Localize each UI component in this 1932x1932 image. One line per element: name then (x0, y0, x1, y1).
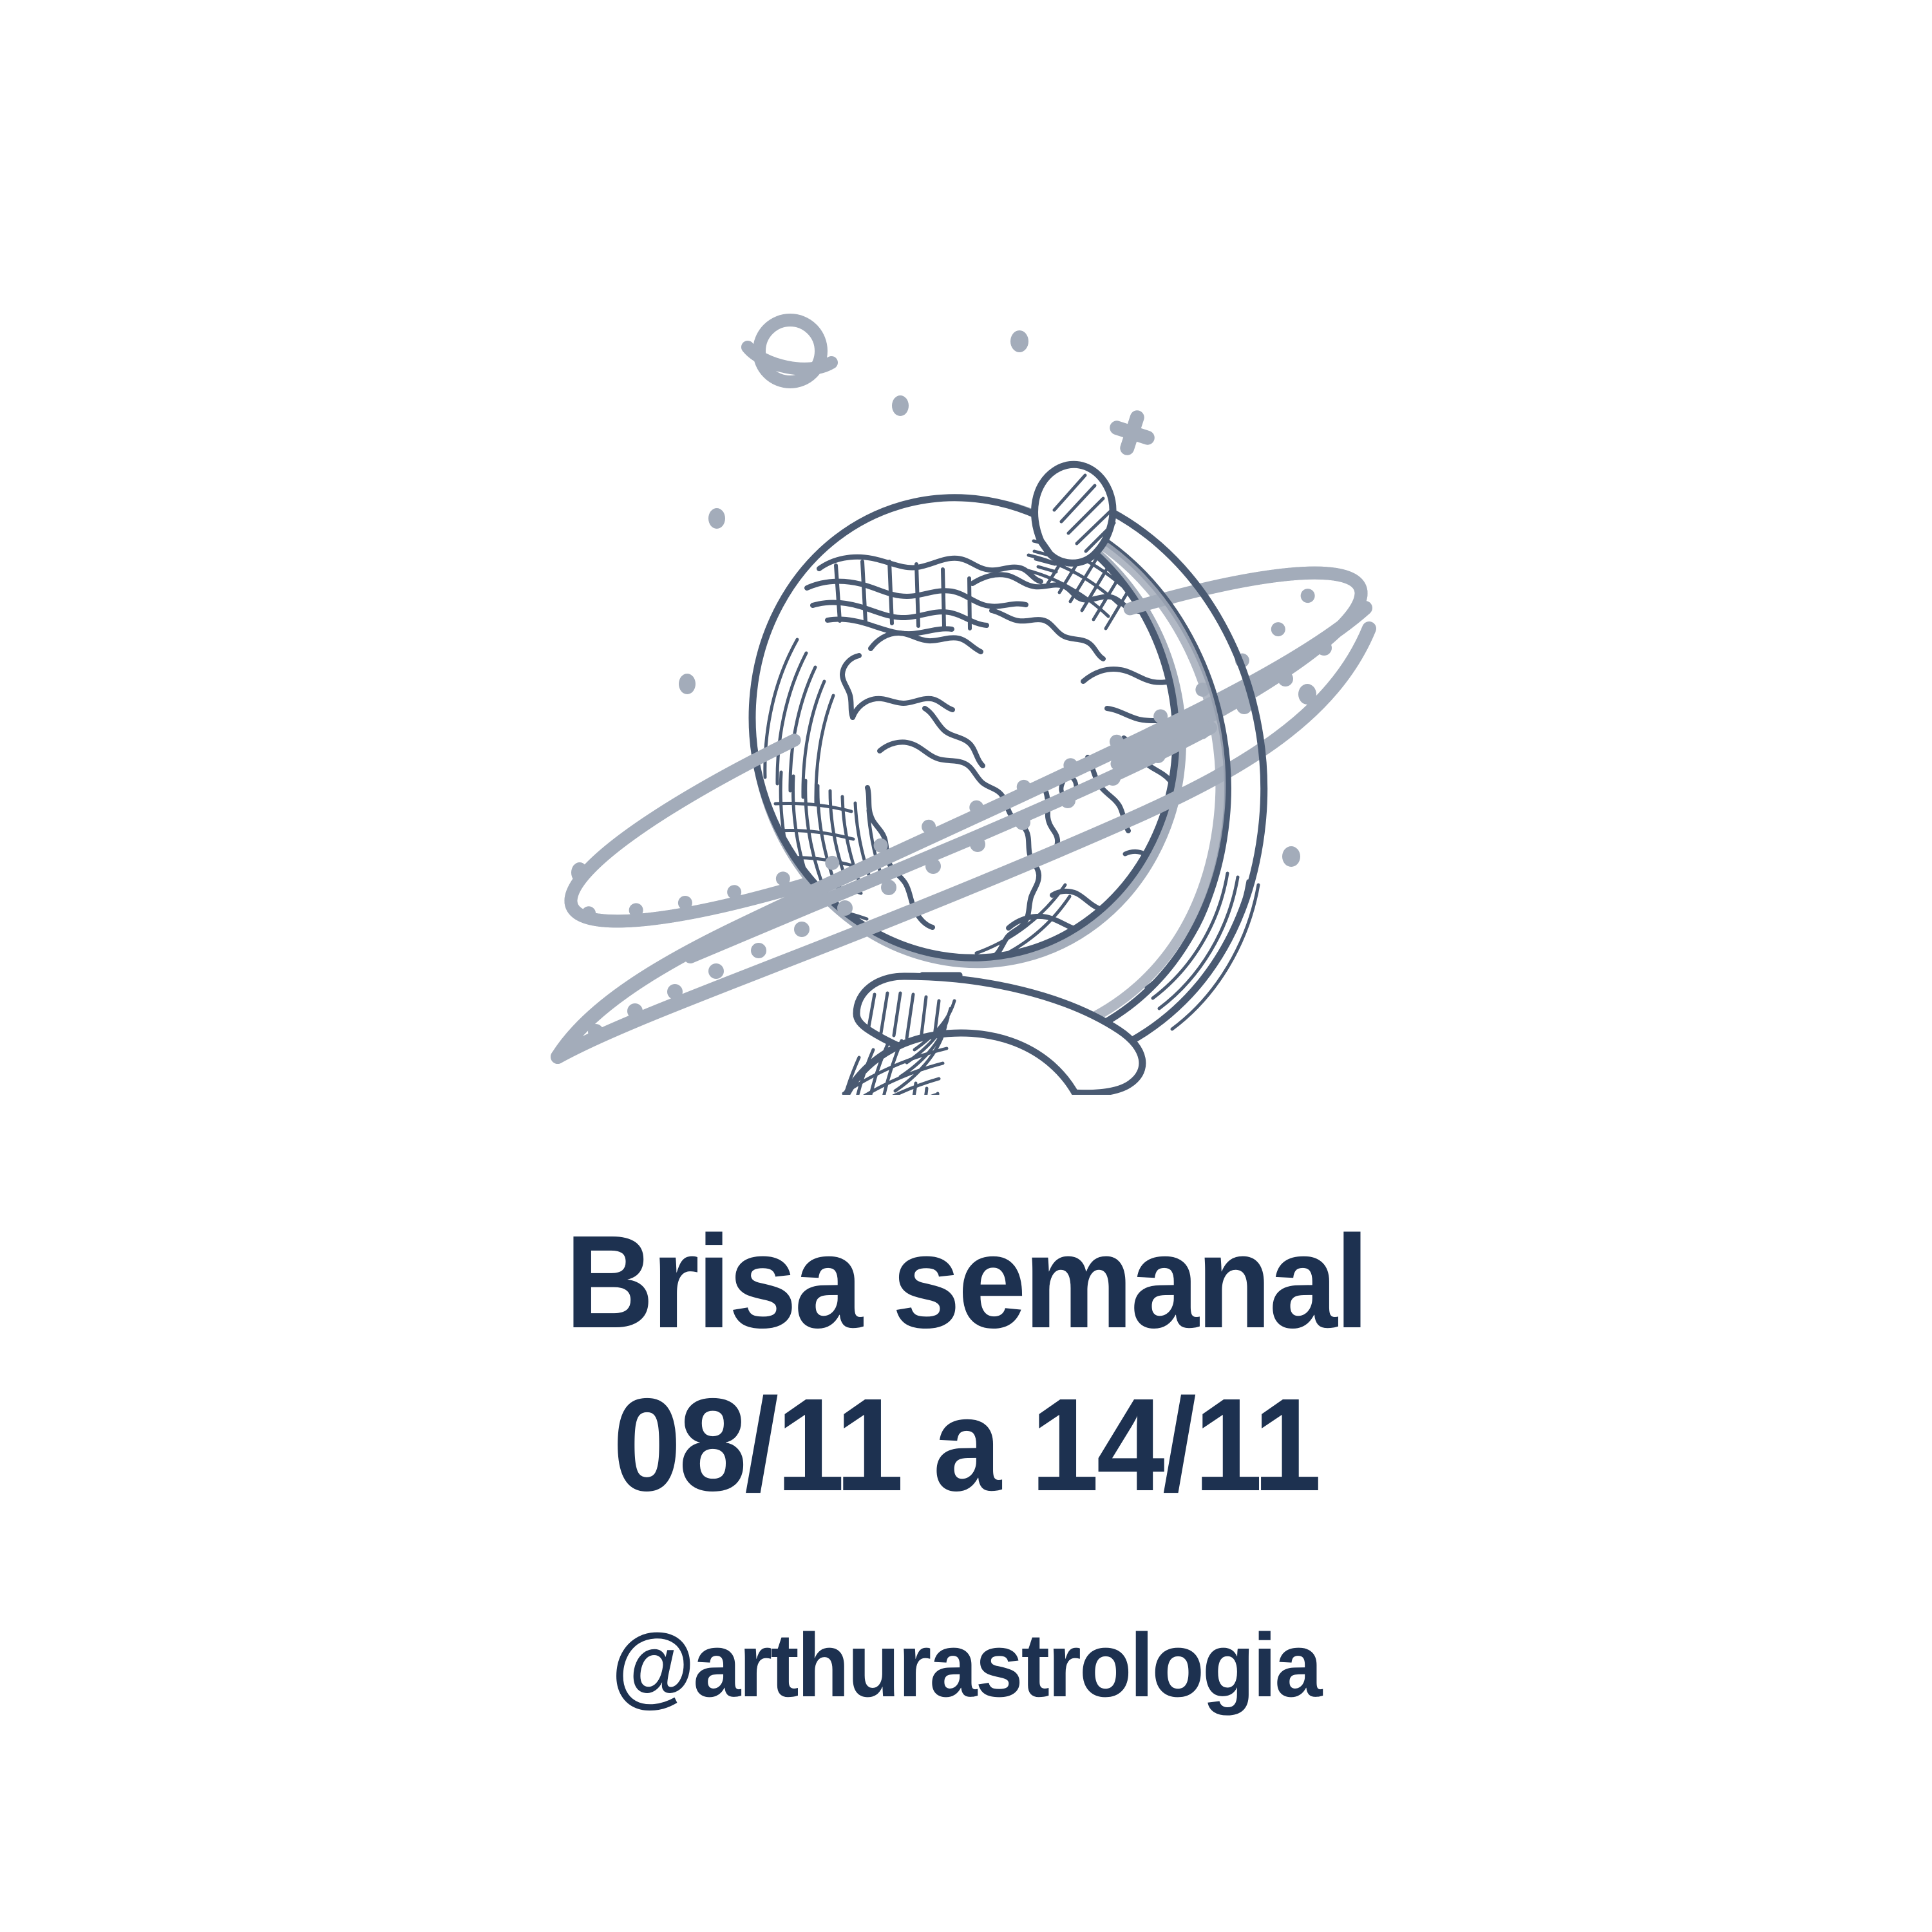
globe-illustration-svg (0, 193, 1932, 1095)
globe-illustration (0, 193, 1932, 1095)
social-handle: @arthurastrologia (48, 1511, 1884, 1710)
page-title-line-1: Brisa semanal (68, 1159, 1864, 1348)
sketch-group (544, 193, 1388, 1095)
page-title-line-2: 08/11 a 14/11 (68, 1348, 1864, 1511)
poster-canvas: Brisa semanal 08/11 a 14/11 @arthurastro… (0, 0, 1932, 1932)
small-planet-icon (748, 193, 831, 382)
caption-block: Brisa semanal 08/11 a 14/11 @arthurastro… (0, 1159, 1932, 1710)
